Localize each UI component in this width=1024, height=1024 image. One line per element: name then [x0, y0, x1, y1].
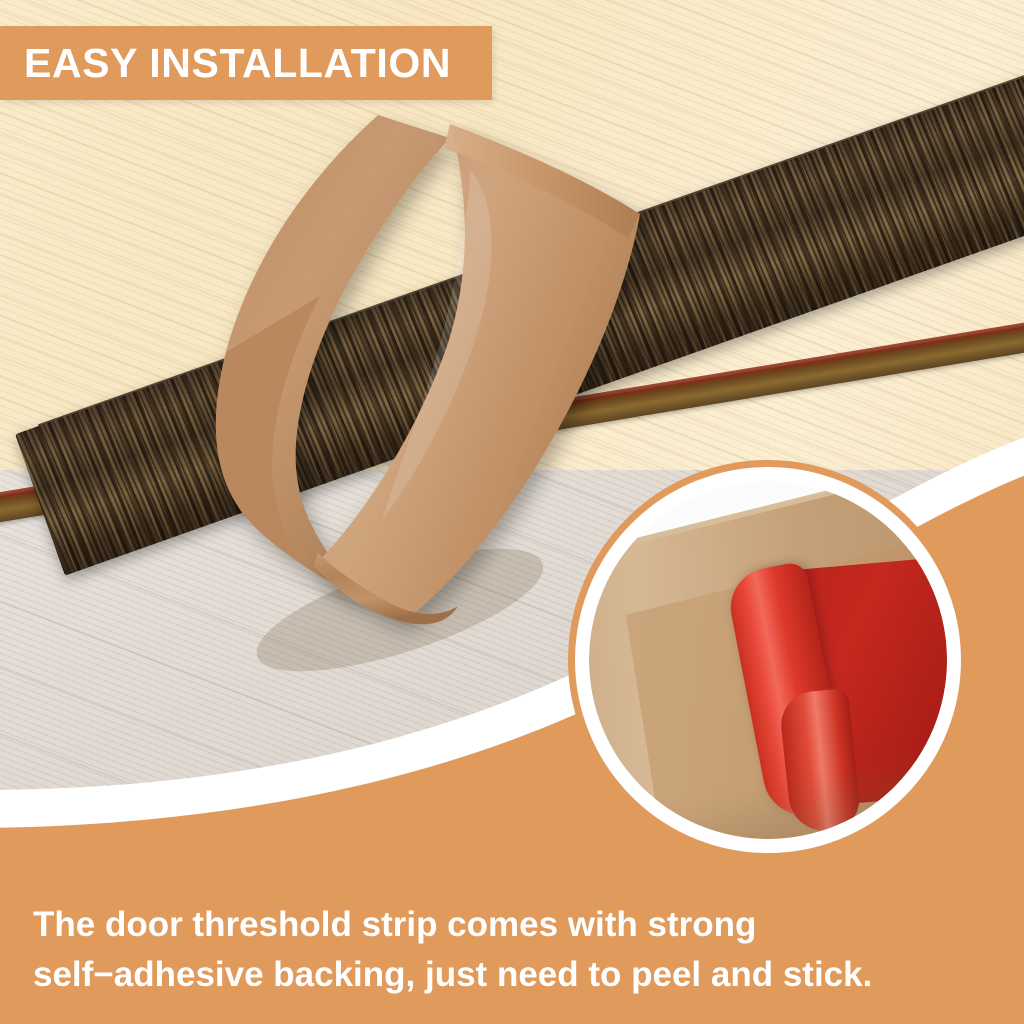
caption-text: The door threshold strip comes with stro…: [33, 900, 983, 1000]
inset-photo: [589, 481, 947, 839]
product-marketing-image: EASY INSTALLATION The door threshold str…: [0, 0, 1024, 1024]
inset-white-gap: [582, 474, 954, 846]
inset-outer-ring: [568, 460, 968, 860]
detail-inset-circle: [568, 460, 968, 860]
banner-title: EASY INSTALLATION: [0, 43, 451, 84]
header-banner: EASY INSTALLATION: [0, 26, 492, 100]
